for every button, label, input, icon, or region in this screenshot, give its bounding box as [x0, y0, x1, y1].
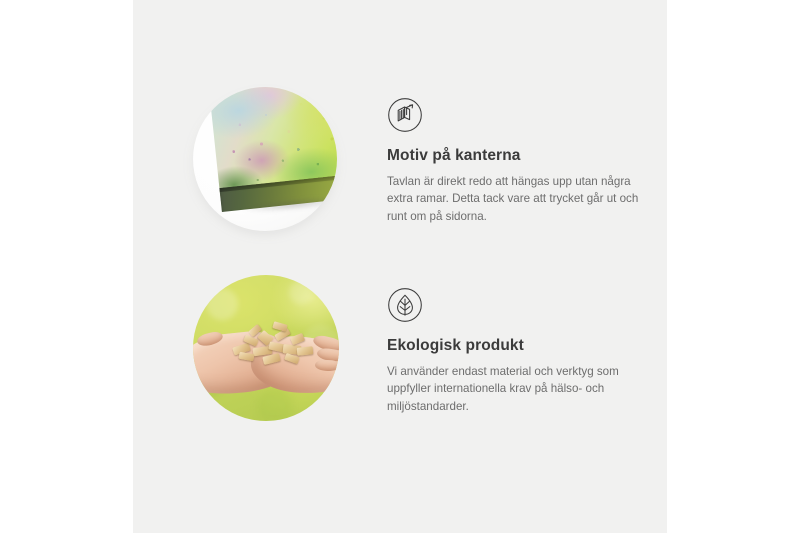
feature-block-canvas-edges: Motiv på kanterna Tavlan är direkt redo …: [133, 75, 667, 265]
canvas-wrapped-edge-icon: [387, 97, 423, 133]
feature-media-eco: [133, 265, 377, 455]
product-feature-banner: Motiv på kanterna Tavlan är direkt redo …: [0, 0, 800, 533]
hands-holding-wood-chips-photo: [193, 275, 339, 421]
canvas-print-corner-photo: [193, 87, 337, 231]
feature-text-canvas: Motiv på kanterna Tavlan är direkt redo …: [377, 75, 667, 225]
content-panel: Motiv på kanterna Tavlan är direkt redo …: [133, 0, 667, 533]
feature-body: Vi använder endast material och verktyg …: [387, 363, 655, 416]
feature-body: Tavlan är direkt redo att hängas upp uta…: [387, 173, 655, 226]
feature-media-canvas: [133, 75, 377, 265]
leaf-icon: [387, 287, 423, 323]
feature-text-eco: Ekologisk produkt Vi använder endast mat…: [377, 265, 667, 415]
feature-block-eco-product: Ekologisk produkt Vi använder endast mat…: [133, 265, 667, 455]
feature-title: Motiv på kanterna: [387, 147, 667, 166]
canvas-block: [208, 87, 337, 212]
wood-chip-pile: [229, 319, 315, 367]
feature-title: Ekologisk produkt: [387, 337, 667, 356]
